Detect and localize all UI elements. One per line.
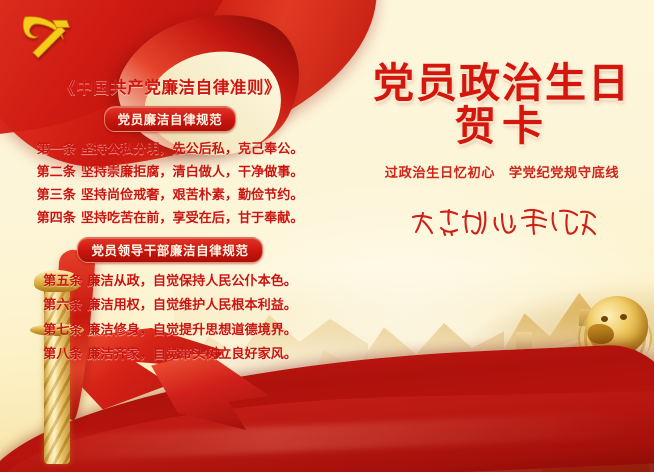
status-badge-leader-norms: 党员领导干部廉洁自律规范 bbox=[77, 237, 262, 263]
clause-number: 第四条 bbox=[37, 210, 76, 225]
clause-text: 坚持吃苦在前，享受在后，甘于奉献。 bbox=[81, 210, 304, 225]
clause-number: 第五条 bbox=[43, 273, 82, 288]
clause-text: 廉洁齐家，自觉带头树立良好家风。 bbox=[87, 346, 297, 361]
hammer-and-sickle-icon bbox=[18, 10, 74, 62]
lion-eye bbox=[620, 314, 627, 320]
list-item: 第七条廉洁修身，自觉提升思想道德境界。 bbox=[0, 323, 340, 336]
clause-text: 坚持尚俭戒奢，艰苦朴素，勤俭节约。 bbox=[81, 187, 304, 202]
clause-number: 第七条 bbox=[43, 322, 82, 337]
list-item: 第二条坚持崇廉拒腐，清白做人，干净做事。 bbox=[0, 165, 340, 178]
clause-number: 第一条 bbox=[37, 141, 76, 156]
poster-main-title: 党员政治生日 贺卡 bbox=[352, 62, 652, 149]
clause-number: 第六条 bbox=[43, 297, 82, 312]
main-title-line-2: 贺卡 bbox=[352, 105, 652, 148]
clause-text: 廉洁修身，自觉提升思想道德境界。 bbox=[87, 322, 297, 337]
clause-number: 第二条 bbox=[37, 164, 76, 179]
clause-number: 第三条 bbox=[37, 187, 76, 202]
section-two: 党员领导干部廉洁自律规范 第五条廉洁从政，自觉保持人民公仆本色。 第六条廉洁用权… bbox=[0, 237, 340, 359]
list-item: 第三条坚持尚俭戒奢，艰苦朴素，勤俭节约。 bbox=[0, 188, 340, 201]
list-item: 第一条坚持公私分明，先公后私，克己奉公。 bbox=[0, 142, 340, 155]
clause-list-members: 第一条坚持公私分明，先公后私，克己奉公。 第二条坚持崇廉拒腐，清白做人，干净做事… bbox=[0, 142, 340, 224]
political-birthday-greeting-card-poster: 《中国共产党廉洁自律准则》 党员廉洁自律规范 第一条坚持公私分明，先公后私，克己… bbox=[0, 0, 654, 472]
main-title-line-1: 党员政治生日 bbox=[352, 62, 652, 105]
lion-eye bbox=[601, 316, 608, 322]
clause-text: 廉洁用权，自觉维护人民根本利益。 bbox=[87, 297, 297, 312]
clause-text: 廉洁从政，自觉保持人民公仆本色。 bbox=[87, 273, 297, 288]
greeting-title-panel: 党员政治生日 贺卡 过政治生日忆初心 学党纪党规守底线 bbox=[352, 62, 652, 243]
page-title: 《中国共产党廉洁自律准则》 bbox=[0, 74, 340, 98]
clause-number: 第八条 bbox=[43, 346, 82, 361]
code-of-conduct-panel: 《中国共产党廉洁自律准则》 党员廉洁自律规范 第一条坚持公私分明，先公后私，克己… bbox=[0, 74, 340, 360]
list-item: 第八条廉洁齐家，自觉带头树立良好家风。 bbox=[0, 347, 340, 360]
list-item: 第六条廉洁用权，自觉维护人民根本利益。 bbox=[0, 298, 340, 311]
poster-subtitle: 过政治生日忆初心 学党纪党规守底线 bbox=[352, 162, 652, 181]
clause-text: 坚持公私分明，先公后私，克己奉公。 bbox=[81, 141, 304, 156]
clause-text: 坚持崇廉拒腐，清白做人，干净做事。 bbox=[81, 164, 304, 179]
cursive-calligraphy-icon bbox=[352, 199, 652, 243]
clause-list-leaders: 第五条廉洁从政，自觉保持人民公仆本色。 第六条廉洁用权，自觉维护人民根本利益。 … bbox=[0, 274, 340, 359]
section-one: 党员廉洁自律规范 第一条坚持公私分明，先公后私，克己奉公。 第二条坚持崇廉拒腐，… bbox=[0, 106, 340, 224]
status-badge-member-norms: 党员廉洁自律规范 bbox=[104, 106, 237, 132]
list-item: 第四条坚持吃苦在前，享受在后，甘于奉献。 bbox=[0, 211, 340, 224]
list-item: 第五条廉洁从政，自觉保持人民公仆本色。 bbox=[0, 274, 340, 287]
lion-muzzle bbox=[588, 324, 614, 344]
